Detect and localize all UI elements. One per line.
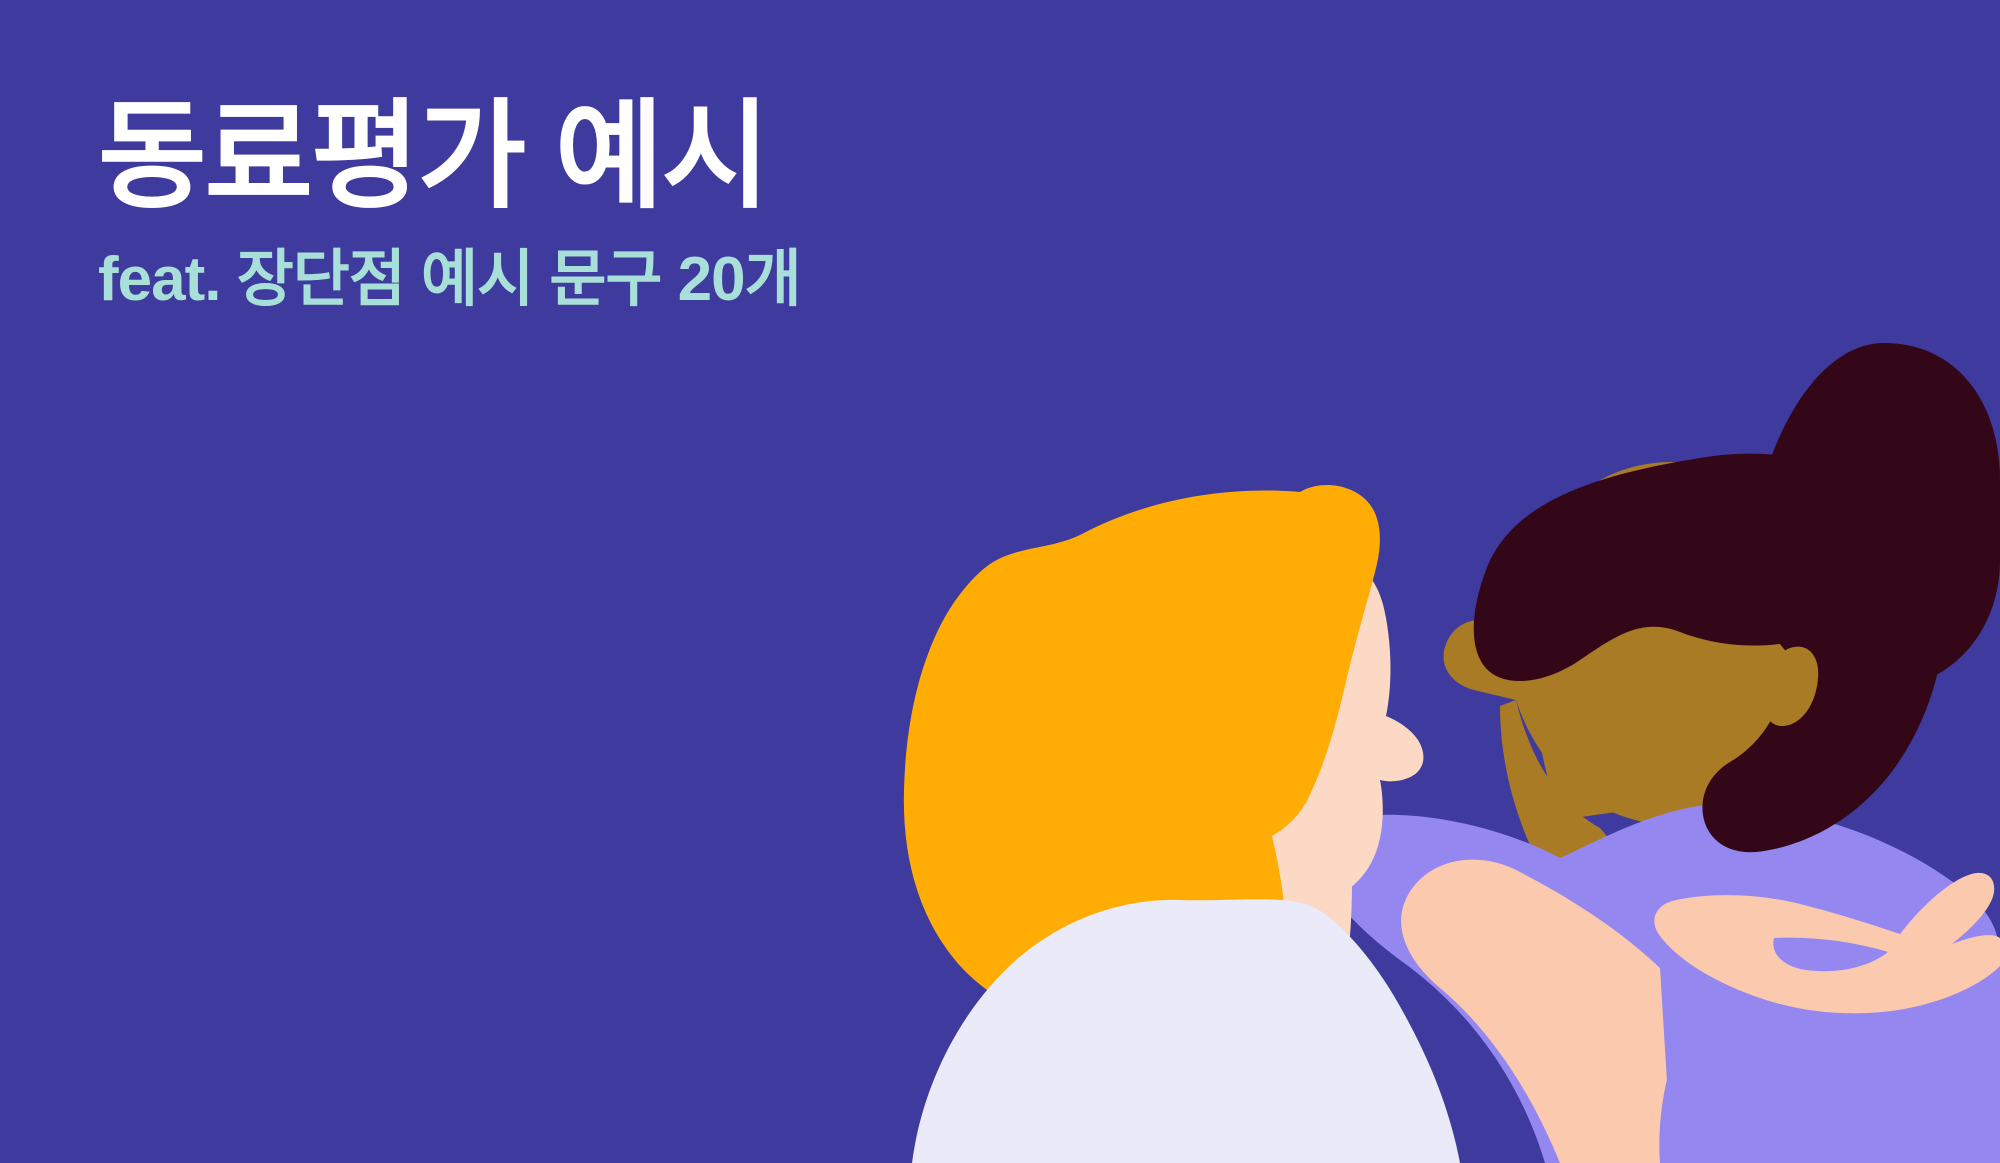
promo-banner: 동료평가 예시 feat. 장단점 예시 문구 20개 bbox=[0, 0, 2000, 1163]
illustration-two-people-talking bbox=[0, 0, 2000, 1163]
